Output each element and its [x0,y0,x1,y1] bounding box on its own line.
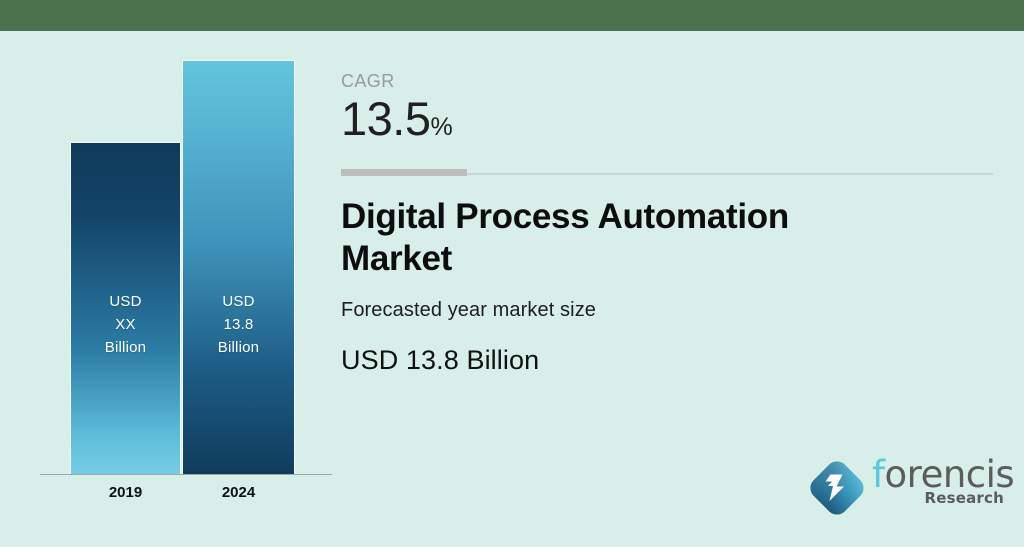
bar-2024: USD 13.8 Billion [182,60,295,474]
cagr-percent-sign: % [430,113,452,141]
bar-chart: USD XX Billion USD 13.8 Billion 2019 202… [40,60,332,530]
bar-2019-label-line1: USD [105,290,146,313]
brand-initial: f [872,453,885,496]
subtitle-text: Forecasted year market size [341,297,996,323]
bar-2019: USD XX Billion [70,142,181,474]
axis-label-2019: 2019 [70,484,181,501]
bar-2024-label: USD 13.8 Billion [218,290,259,359]
brand-wordmark: forencis Research [872,454,1006,507]
bar-2019-label: USD XX Billion [105,290,146,359]
bar-2019-label-line3: Billion [105,336,146,359]
infographic-canvas: USD XX Billion USD 13.8 Billion 2019 202… [0,0,1024,547]
bar-2019-label-line2: XX [105,313,146,336]
section-divider [341,169,993,175]
brand-logo: forencis Research [806,452,1006,524]
forencis-diamond-icon [806,457,868,519]
bar-2024-label-line3: Billion [218,336,259,359]
market-size-value: USD 13.8 Billion [341,344,996,376]
bar-2024-label-line1: USD [218,290,259,313]
bar-group: USD XX Billion USD 13.8 Billion [40,142,332,474]
content-column: CAGR 13.5% Digital Process Automation Ma… [341,70,996,376]
top-green-band [0,0,1024,31]
x-axis-line [40,474,332,475]
cagr-value: 13.5% [341,93,996,153]
page-title: Digital Process Automation Market [341,196,881,280]
axis-label-2024: 2024 [182,484,295,501]
divider-accent-bar [341,169,467,176]
cagr-number: 13.5 [341,92,430,145]
x-axis-labels: 2019 2024 [40,484,332,508]
bar-2024-label-line2: 13.8 [218,313,259,336]
cagr-label: CAGR [341,70,996,92]
